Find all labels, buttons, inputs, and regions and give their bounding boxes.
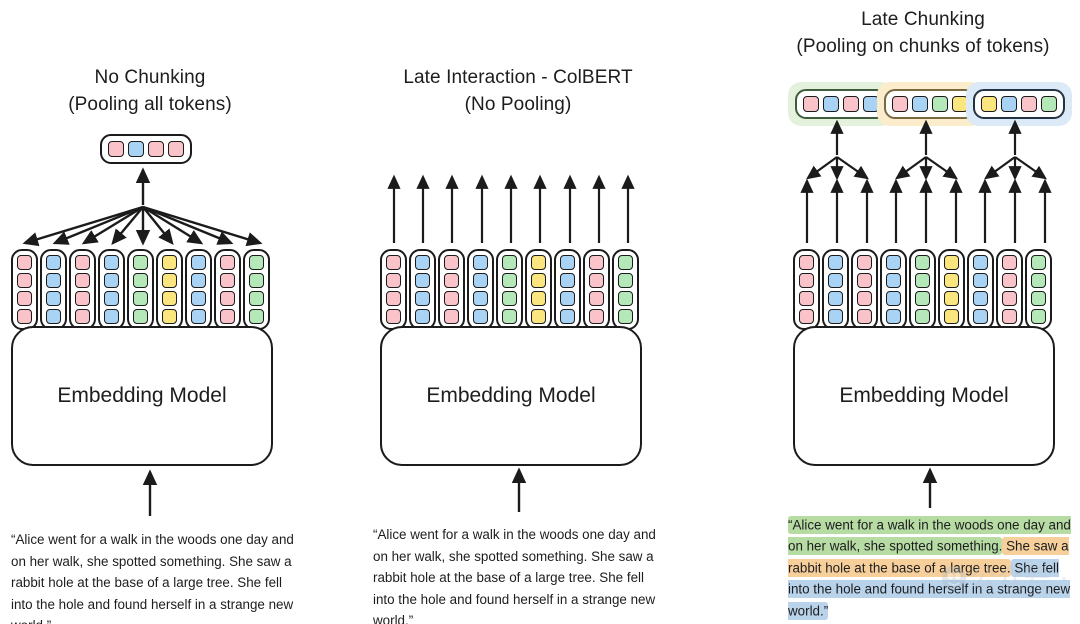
input-document-text-2: “Alice went for a walk in the woods one … [373,524,663,624]
diagram-canvas: No Chunking (Pooling all tokens) [0,0,1080,624]
document-text: “Alice went for a walk in the woods one … [11,532,294,624]
panel-late-interaction-colbert: Late Interaction - ColBERT (No Pooling) [368,0,668,624]
panel-no-chunking: No Chunking (Pooling all tokens) [0,0,300,624]
document-text: “Alice went for a walk in the woods one … [373,527,656,624]
panel-late-chunking: Late Chunking (Pooling on chunks of toke… [780,0,1080,624]
input-document-text-chunked: “Alice went for a walk in the woods one … [788,514,1078,622]
input-document-text-1: “Alice went for a walk in the woods one … [11,529,301,624]
